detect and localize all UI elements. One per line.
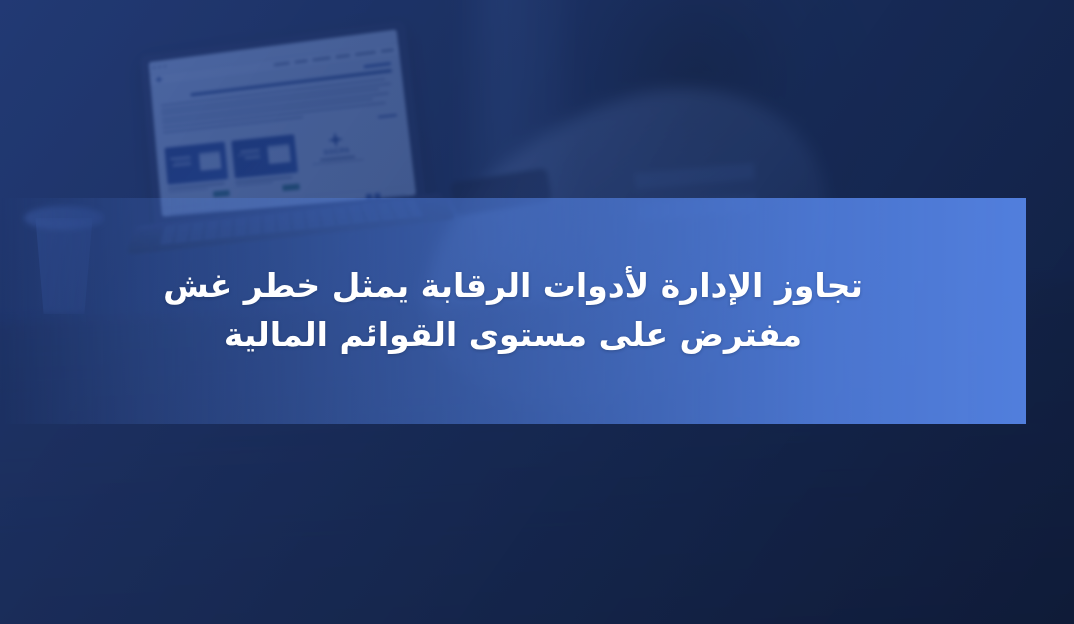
- headline-band: تجاوز الإدارة لأدوات الرقابة يمثل خطر غش…: [0, 198, 1026, 424]
- page-title: تجاوز الإدارة لأدوات الرقابة يمثل خطر غش…: [53, 262, 973, 360]
- hero-banner: SOCPA: [0, 0, 1074, 624]
